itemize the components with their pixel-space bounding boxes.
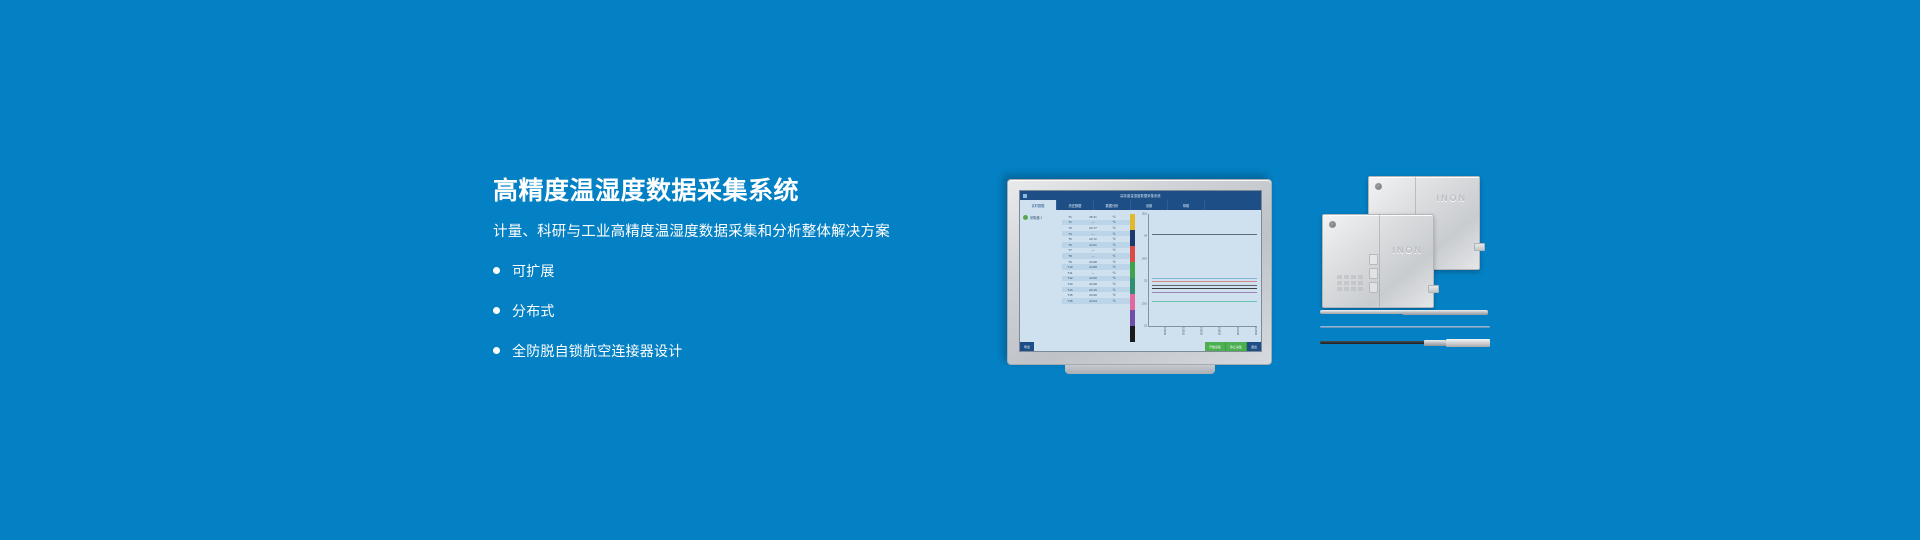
sensor-id: T12	[1062, 276, 1078, 280]
table-row: T1324.28℃	[1062, 281, 1130, 287]
sidebar-item-collector[interactable]: 采集器 1	[1023, 215, 1059, 220]
sensor-value: 25.31	[1078, 215, 1108, 219]
vent-hole	[1337, 281, 1342, 285]
chart-series-line	[1152, 234, 1257, 235]
sensor-id: T9	[1062, 260, 1078, 264]
app-window-title: 高精度温湿度数据采集系统	[1020, 193, 1261, 198]
sensor-unit: ℃	[1108, 299, 1120, 303]
button-label: 导出	[1024, 345, 1030, 349]
brand-logo: INON	[1437, 193, 1468, 203]
sensor-value: 24.72	[1078, 237, 1108, 241]
table-row: T1024.88℃	[1062, 264, 1130, 270]
sensor-unit: ℃	[1108, 232, 1120, 236]
port-icon	[1369, 282, 1378, 293]
list-item: 分布式	[493, 301, 963, 321]
status-indicator-icon	[1023, 215, 1028, 220]
enclosure-front: INON	[1322, 214, 1434, 308]
bullet-dot-icon	[493, 307, 500, 314]
port-icon	[1369, 268, 1378, 279]
panel-pc-monitor: 高精度温湿度数据采集系统 实时数据 历史数据 数据分析 设置	[1007, 179, 1272, 365]
sensor-id: T3	[1062, 226, 1078, 230]
sensor-value: ---	[1078, 248, 1108, 252]
chart-x-tick-label: 10:25:15	[1166, 327, 1184, 339]
tab-label: 帮助	[1183, 203, 1189, 208]
chart-x-tick-label: 10:45:15	[1239, 327, 1257, 339]
probe-cable	[1320, 326, 1490, 328]
sensor-unit: ℃	[1108, 276, 1120, 280]
button-label: 退出	[1251, 345, 1257, 349]
vent-hole	[1358, 275, 1363, 279]
port-icon	[1369, 254, 1378, 265]
sensor-unit: ℃	[1108, 254, 1120, 258]
vent-hole	[1344, 287, 1349, 291]
chart-x-tick-label: 10:40:15	[1221, 327, 1239, 339]
list-item: 全防脱自锁航空连接器设计	[493, 341, 963, 361]
chart-y-tick-label: 24.0	[1142, 257, 1147, 260]
sensor-id: T7	[1062, 248, 1078, 252]
sensor-value: ---	[1078, 220, 1108, 224]
chart-y-tick-label: 25.0	[1142, 213, 1147, 216]
chart-x-tick-label: 10:20:15	[1148, 327, 1166, 339]
table-row: T8---℃	[1062, 253, 1130, 259]
sensor-unit: ℃	[1108, 260, 1120, 264]
device-tree-sidebar: 采集器 1	[1020, 210, 1062, 342]
brand-logo: INON	[1393, 245, 1424, 255]
tab-label: 设置	[1146, 203, 1152, 208]
sidebar-item-label: 采集器 1	[1030, 215, 1042, 220]
connector-ports	[1369, 254, 1378, 293]
table-row: T125.31℃	[1062, 214, 1130, 220]
feature-label: 可扩展	[512, 261, 555, 281]
feature-list: 可扩展 分布式 全防脱自锁航空连接器设计	[493, 261, 963, 361]
sensor-id: T2	[1062, 220, 1078, 224]
chart-y-tick-label: 22	[1144, 325, 1147, 328]
sensor-unit: ℃	[1108, 220, 1120, 224]
screw-icon	[1375, 183, 1382, 190]
chart-series-line	[1152, 292, 1257, 293]
vent-hole	[1344, 281, 1349, 285]
sensor-unit: ℃	[1108, 243, 1120, 247]
sensor-value: 24.88	[1078, 265, 1108, 269]
probe-shaft	[1320, 310, 1406, 314]
tab-analysis[interactable]: 数据分析	[1094, 200, 1131, 210]
mounting-tab	[1428, 285, 1439, 293]
probe-cable	[1320, 341, 1428, 344]
table-row: T4---℃	[1062, 231, 1130, 237]
mounting-tab	[1474, 243, 1485, 251]
sensor-unit: ℃	[1108, 248, 1120, 252]
table-row: T624.61℃	[1062, 242, 1130, 248]
page-title: 高精度温湿度数据采集系统	[493, 178, 963, 206]
tab-help[interactable]: 帮助	[1168, 200, 1205, 210]
sensor-value: 24.90	[1078, 276, 1108, 280]
sensor-id: T10	[1062, 265, 1078, 269]
chart-series-line	[1152, 281, 1257, 282]
table-row: T11---℃	[1062, 270, 1130, 276]
vent-hole	[1344, 275, 1349, 279]
sensor-id: T8	[1062, 254, 1078, 258]
monitor-stand	[1065, 365, 1215, 374]
page-subtitle: 计量、科研与工业高精度温湿度数据采集和分析整体解决方案	[493, 224, 963, 241]
export-button[interactable]: 导出	[1020, 342, 1034, 351]
chart-series-line	[1152, 278, 1257, 279]
sensor-id: T1	[1062, 215, 1078, 219]
chart-x-axis	[1148, 326, 1257, 327]
sensor-unit: ℃	[1108, 215, 1120, 219]
table-row: T2---℃	[1062, 220, 1130, 226]
vent-hole	[1337, 287, 1342, 291]
probe-tip	[1402, 310, 1488, 315]
tab-history[interactable]: 历史数据	[1057, 200, 1094, 210]
chart-y-tick-label: 23.0	[1142, 302, 1147, 305]
screw-icon	[1329, 221, 1336, 228]
bullet-dot-icon	[493, 267, 500, 274]
table-row: T924.98℃	[1062, 259, 1130, 265]
chart-plot-area	[1148, 214, 1257, 326]
tab-settings[interactable]: 设置	[1131, 200, 1168, 210]
sensor-value: 24.28	[1078, 282, 1108, 286]
table-row: T1224.90℃	[1062, 276, 1130, 282]
chart-y-tick-label: 24	[1144, 235, 1147, 238]
sensor-id: T4	[1062, 232, 1078, 236]
sensor-id: T11	[1062, 271, 1078, 275]
table-row: T1524.90℃	[1062, 292, 1130, 298]
vent-hole	[1351, 275, 1356, 279]
sensor-unit: ℃	[1108, 226, 1120, 230]
button-label: 开始采集	[1209, 345, 1221, 349]
vent-hole	[1337, 275, 1342, 279]
sensor-value: 24.61	[1078, 243, 1108, 247]
feature-label: 全防脱自锁航空连接器设计	[512, 341, 682, 361]
app-titlebar: 高精度温湿度数据采集系统	[1020, 191, 1261, 200]
sensor-unit: ℃	[1108, 271, 1120, 275]
tab-bar: 实时数据 历史数据 数据分析 设置 帮助	[1020, 200, 1261, 210]
start-capture-button[interactable]: 开始采集	[1205, 342, 1226, 351]
chart-x-tick-label: 10:30:15	[1184, 327, 1202, 339]
sensor-unit: ℃	[1108, 282, 1120, 286]
hero-copy: 高精度温湿度数据采集系统 计量、科研与工业高精度温湿度数据采集和分析整体解决方案…	[493, 178, 963, 381]
sensor-value: ---	[1078, 271, 1108, 275]
chart-series-line	[1152, 288, 1257, 289]
sensor-id: T6	[1062, 243, 1078, 247]
table-row: T524.72℃	[1062, 236, 1130, 242]
exit-button[interactable]: 退出	[1247, 342, 1261, 351]
sensor-value: ---	[1078, 254, 1108, 258]
table-row: T1424.15℃	[1062, 287, 1130, 293]
sensor-value: 24.94	[1078, 299, 1108, 303]
tab-label: 数据分析	[1106, 203, 1119, 208]
button-label: 停止采集	[1230, 345, 1242, 349]
monitor-screen: 高精度温湿度数据采集系统 实时数据 历史数据 数据分析 设置	[1019, 190, 1262, 352]
vent-hole	[1351, 287, 1356, 291]
monitor-bezel: 高精度温湿度数据采集系统 实时数据 历史数据 数据分析 设置	[1007, 179, 1272, 365]
vent-hole	[1358, 281, 1363, 285]
app-body: 采集器 1 T125.31℃ T2---℃ T324.77℃ T4---℃ T5…	[1020, 210, 1261, 342]
hero-banner: 高精度温湿度数据采集系统 计量、科研与工业高精度温湿度数据采集和分析整体解决方案…	[0, 0, 1920, 540]
sensor-id: T14	[1062, 288, 1078, 292]
table-row: T1624.94℃	[1062, 298, 1130, 304]
sensor-value: ---	[1078, 232, 1108, 236]
sensor-value: 24.15	[1078, 288, 1108, 292]
tab-realtime[interactable]: 实时数据	[1020, 200, 1057, 210]
data-logger-enclosures: INON INON	[1322, 176, 1482, 306]
chart-series-line	[1152, 285, 1257, 286]
tab-label: 实时数据	[1032, 203, 1045, 208]
vent-hole	[1358, 287, 1363, 291]
chart-x-tick-labels: 10:20:1510:25:1510:30:1510:35:1510:40:15…	[1148, 327, 1257, 339]
action-button-bar: 导出 开始采集 停止采集 退出	[1020, 342, 1261, 351]
sensor-id: T5	[1062, 237, 1078, 241]
tab-bar-filler	[1205, 200, 1261, 210]
feature-label: 分布式	[512, 301, 555, 321]
cable-connector	[1424, 340, 1446, 346]
sensor-unit: ℃	[1108, 288, 1120, 292]
probe-housing	[1446, 339, 1490, 347]
sensor-value: 24.98	[1078, 260, 1108, 264]
panel-seam	[1379, 215, 1380, 307]
list-item: 可扩展	[493, 261, 963, 281]
sensor-id: T15	[1062, 293, 1078, 297]
chart-series-line	[1152, 301, 1257, 302]
chart-x-tick-label: 10:35:15	[1203, 327, 1221, 339]
button-bar-spacer	[1034, 342, 1205, 351]
sensor-unit: ℃	[1108, 265, 1120, 269]
table-row: T324.77℃	[1062, 225, 1130, 231]
sensor-value: 24.77	[1078, 226, 1108, 230]
sensor-readings-table: T125.31℃ T2---℃ T324.77℃ T4---℃ T524.72℃…	[1062, 210, 1130, 342]
vent-grid	[1337, 275, 1363, 291]
sensor-id: T13	[1062, 282, 1078, 286]
sensor-probes	[1320, 308, 1490, 356]
stop-capture-button[interactable]: 停止采集	[1226, 342, 1247, 351]
sensor-unit: ℃	[1108, 293, 1120, 297]
tab-label: 历史数据	[1069, 203, 1082, 208]
chart-y-tick-label: 23	[1144, 280, 1147, 283]
sensor-unit: ℃	[1108, 237, 1120, 241]
sensor-value: 24.90	[1078, 293, 1108, 297]
bullet-dot-icon	[493, 347, 500, 354]
trend-chart: 25.02424.02323.022 10:20:1510:25:1510:30…	[1135, 210, 1261, 342]
table-row: T7---℃	[1062, 248, 1130, 254]
sensor-id: T16	[1062, 299, 1078, 303]
vent-hole	[1351, 281, 1356, 285]
